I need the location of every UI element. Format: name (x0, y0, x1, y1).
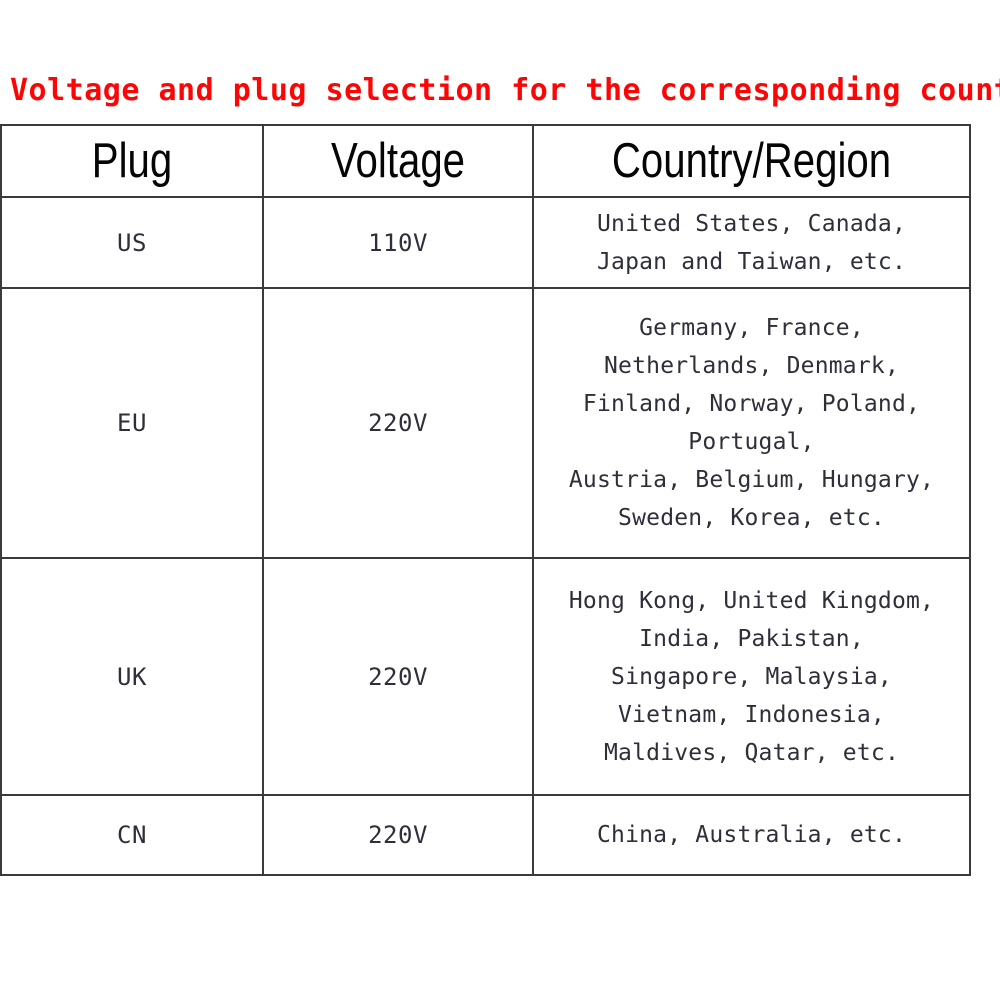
page-title: Voltage and plug selection for the corre… (10, 72, 970, 110)
cell-voltage: 220V (263, 558, 533, 795)
country-line: India, Pakistan, (534, 620, 969, 658)
table-row: EU 220V Germany, France, Netherlands, De… (1, 288, 970, 558)
country-line: Finland, Norway, Poland, (534, 385, 969, 423)
country-line: Austria, Belgium, Hungary, (534, 461, 969, 499)
column-header-plug: Plug (25, 125, 240, 197)
country-line: Maldives, Qatar, etc. (534, 734, 969, 772)
country-line: Portugal, (534, 423, 969, 461)
table-row: CN 220V China, Australia, etc. (1, 795, 970, 875)
cell-country-region: Hong Kong, United Kingdom, India, Pakist… (533, 558, 970, 795)
country-line: Sweden, Korea, etc. (534, 499, 969, 537)
table-header: Plug Voltage Country/Region (1, 125, 970, 197)
cell-plug: EU (1, 288, 263, 558)
cell-voltage: 220V (263, 795, 533, 875)
column-header-country-region: Country/Region (572, 125, 930, 197)
voltage-plug-table-container: Plug Voltage Country/Region US 110V Unit… (0, 124, 969, 876)
column-header-voltage: Voltage (287, 125, 508, 197)
cell-plug: CN (1, 795, 263, 875)
country-line-list: United States, Canada, Japan and Taiwan,… (534, 205, 969, 281)
country-line: Germany, France, (534, 309, 969, 347)
country-line-list: Hong Kong, United Kingdom, India, Pakist… (534, 582, 969, 772)
table-row: UK 220V Hong Kong, United Kingdom, India… (1, 558, 970, 795)
cell-voltage: 110V (263, 197, 533, 288)
cell-plug: US (1, 197, 263, 288)
table-header-row: Plug Voltage Country/Region (1, 125, 970, 197)
cell-country-region: United States, Canada, Japan and Taiwan,… (533, 197, 970, 288)
country-line-list: China, Australia, etc. (534, 816, 969, 854)
cell-voltage: 220V (263, 288, 533, 558)
country-line: Japan and Taiwan, etc. (534, 243, 969, 281)
country-line-list: Germany, France, Netherlands, Denmark, F… (534, 309, 969, 537)
country-line: Singapore, Malaysia, (534, 658, 969, 696)
cell-country-region: Germany, France, Netherlands, Denmark, F… (533, 288, 970, 558)
country-line: Vietnam, Indonesia, (534, 696, 969, 734)
cell-country-region: China, Australia, etc. (533, 795, 970, 875)
table-row: US 110V United States, Canada, Japan and… (1, 197, 970, 288)
page-root: Voltage and plug selection for the corre… (0, 0, 1000, 1000)
country-line: United States, Canada, (534, 205, 969, 243)
country-line: Netherlands, Denmark, (534, 347, 969, 385)
country-line: China, Australia, etc. (534, 816, 969, 854)
voltage-plug-table: Plug Voltage Country/Region US 110V Unit… (0, 124, 971, 876)
table-body: US 110V United States, Canada, Japan and… (1, 197, 970, 875)
country-line: Hong Kong, United Kingdom, (534, 582, 969, 620)
cell-plug: UK (1, 558, 263, 795)
